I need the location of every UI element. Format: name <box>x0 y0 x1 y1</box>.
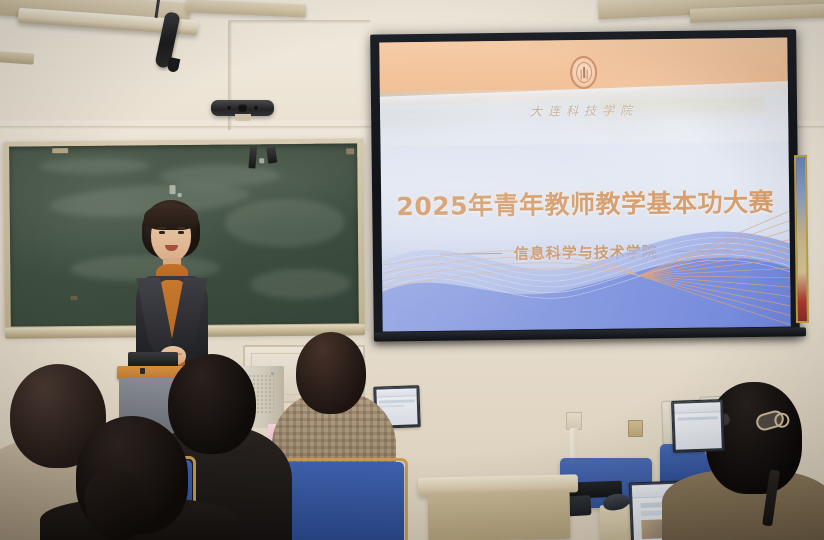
chalk-mark <box>170 185 176 194</box>
presenter-eye <box>178 231 184 234</box>
board-clip <box>248 146 257 168</box>
chalk-smudge <box>39 157 149 174</box>
board-clip <box>52 148 68 153</box>
slide-university-name: 大连科技学院 <box>530 101 638 119</box>
crest-inner-mark <box>575 62 591 83</box>
camera-lens-icon <box>253 105 259 111</box>
camera-lens-icon <box>226 105 232 111</box>
wall-power-outlet <box>628 420 643 437</box>
laptop-ui-text-line <box>677 416 718 421</box>
presenter-fringe <box>144 204 198 230</box>
university-crest-icon <box>570 56 597 89</box>
laptop-ui-text-line <box>379 405 404 408</box>
camera-lens-icon <box>237 104 248 113</box>
chair <box>276 462 404 540</box>
power-led-icon <box>271 372 274 375</box>
desk <box>428 491 571 540</box>
chalk-mark <box>259 158 264 163</box>
presenter-eyebrow <box>177 227 185 229</box>
presenter-eye <box>159 231 165 234</box>
classroom-photo-scene: 大连科技学院 2025年青年教师教学基本功大赛 信息科学与技术学院 <box>0 0 824 540</box>
podium-control-knob <box>140 368 145 374</box>
projected-slide: 大连科技学院 2025年青年教师教学基本功大赛 信息科学与技术学院 <box>379 38 791 332</box>
laptop-ui-text-line <box>379 399 414 403</box>
laptop <box>671 399 725 453</box>
wall-poster-frame <box>794 155 809 323</box>
chalk-smudge <box>225 198 345 247</box>
laptop-ui-toolbar <box>376 388 416 397</box>
wall-header-edge <box>228 20 370 24</box>
board-clip <box>346 148 354 154</box>
laptop-ui-toolbar <box>674 402 720 414</box>
projection-screen: 大连科技学院 2025年青年教师教学基本功大赛 信息科学与技术学院 <box>370 29 800 340</box>
chalk-smudge <box>250 268 350 299</box>
sensor-bar-mount <box>235 114 251 121</box>
laptop-screen <box>674 402 722 450</box>
ceiling-light-fixture <box>0 50 34 64</box>
attendee-head <box>296 332 366 414</box>
slide-wave-graphic <box>381 205 790 331</box>
chalk-mark <box>178 193 182 197</box>
presenter-eyebrow <box>158 227 166 229</box>
chalk-mark <box>71 296 78 300</box>
board-clip <box>266 147 277 164</box>
attendee-head <box>168 354 256 454</box>
